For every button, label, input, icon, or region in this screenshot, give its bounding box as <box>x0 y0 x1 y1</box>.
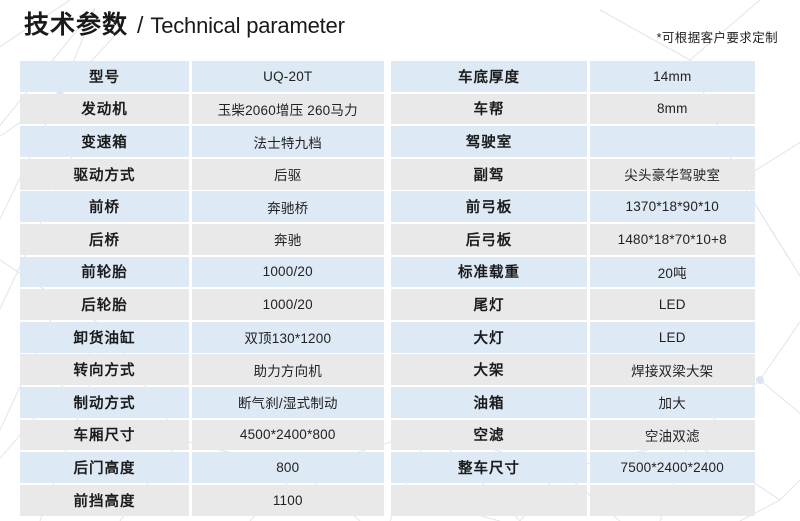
table-row: 变速箱法士特九档 <box>20 126 384 157</box>
spec-label: 油箱 <box>391 387 587 418</box>
spec-label: 驾驶室 <box>391 126 587 157</box>
spec-value: 1370*18*90*10 <box>590 191 756 222</box>
spec-label: 副驾 <box>391 159 587 190</box>
spec-table-left: 型号UQ-20T发动机玉柴2060增压 260马力变速箱法士特九档驱动方式后驱前… <box>20 61 384 517</box>
spec-label: 变速箱 <box>20 126 189 157</box>
spec-value: 1000/20 <box>192 289 385 320</box>
table-row: 前轮胎1000/20 <box>20 257 384 288</box>
table-row: 车厢尺寸4500*2400*800 <box>20 420 384 451</box>
spec-label: 前弓板 <box>391 191 587 222</box>
table-row: 前弓板1370*18*90*10 <box>391 191 755 222</box>
spec-value: 8mm <box>590 94 756 125</box>
spec-table-right: 车底厚度14mm车帮8mm驾驶室副驾尖头豪华驾驶室前弓板1370*18*90*1… <box>391 61 755 517</box>
table-row: 驱动方式后驱 <box>20 159 384 190</box>
spec-label: 车帮 <box>391 94 587 125</box>
table-row: 后弓板1480*18*70*10+8 <box>391 224 755 255</box>
table-row: 油箱加大 <box>391 387 755 418</box>
table-row: 发动机玉柴2060增压 260马力 <box>20 94 384 125</box>
spec-label: 车底厚度 <box>391 61 587 92</box>
spec-label: 发动机 <box>20 94 189 125</box>
spec-label: 前桥 <box>20 191 189 222</box>
table-row: 制动方式断气刹/湿式制动 <box>20 387 384 418</box>
table-row: 后门高度800 <box>20 452 384 483</box>
spec-value: 助力方向机 <box>192 354 385 385</box>
spec-label: 前轮胎 <box>20 257 189 288</box>
spec-value: 焊接双梁大架 <box>590 354 756 385</box>
spec-label: 大灯 <box>391 322 587 353</box>
page-title-english: Technical parameter <box>150 15 344 37</box>
spec-value: 尖头豪华驾驶室 <box>590 159 756 190</box>
spec-value <box>590 485 756 516</box>
table-row: 后轮胎1000/20 <box>20 289 384 320</box>
spec-value: 1100 <box>192 485 385 516</box>
table-row: 前桥奔驰桥 <box>20 191 384 222</box>
spec-label: 后门高度 <box>20 452 189 483</box>
spec-value: 加大 <box>590 387 756 418</box>
spec-label: 后桥 <box>20 224 189 255</box>
spec-value: 1000/20 <box>192 257 385 288</box>
spec-value: 14mm <box>590 61 756 92</box>
table-row: 尾灯LED <box>391 289 755 320</box>
spec-label: 前挡高度 <box>20 485 189 516</box>
spec-value <box>590 126 756 157</box>
spec-value: 奔驰桥 <box>192 191 385 222</box>
spec-value: 玉柴2060增压 260马力 <box>192 94 385 125</box>
page-title: 技术参数 / Technical parameter <box>24 13 345 38</box>
customization-note: *可根据客户要求定制 <box>657 27 778 46</box>
spec-label: 驱动方式 <box>20 159 189 190</box>
spec-label: 整车尺寸 <box>391 452 587 483</box>
title-separator: / <box>137 14 143 37</box>
table-row: 前挡高度1100 <box>20 485 384 516</box>
spec-value: 20吨 <box>590 257 756 288</box>
spec-label: 空滤 <box>391 420 587 451</box>
table-row: 型号UQ-20T <box>20 61 384 92</box>
page-title-chinese: 技术参数 <box>24 13 128 38</box>
spec-label: 尾灯 <box>391 289 587 320</box>
table-row: 整车尺寸7500*2400*2400 <box>391 452 755 483</box>
spec-label: 后轮胎 <box>20 289 189 320</box>
table-row: 车帮8mm <box>391 94 755 125</box>
table-row <box>391 485 755 516</box>
spec-value: LED <box>590 322 756 353</box>
spec-value: LED <box>590 289 756 320</box>
spec-value: 法士特九档 <box>192 126 385 157</box>
table-row: 后桥奔驰 <box>20 224 384 255</box>
table-row: 标准载重20吨 <box>391 257 755 288</box>
spec-value: UQ-20T <box>192 61 385 92</box>
spec-label <box>391 485 587 516</box>
table-row: 驾驶室 <box>391 126 755 157</box>
spec-label: 卸货油缸 <box>20 322 189 353</box>
spec-value: 7500*2400*2400 <box>590 452 756 483</box>
spec-value: 空油双滤 <box>590 420 756 451</box>
spec-label: 标准载重 <box>391 257 587 288</box>
page-header: 技术参数 / Technical parameter *可根据客户要求定制 <box>0 0 800 58</box>
spec-value: 后驱 <box>192 159 385 190</box>
spec-value: 奔驰 <box>192 224 385 255</box>
table-row: 卸货油缸双顶130*1200 <box>20 322 384 353</box>
spec-value: 双顶130*1200 <box>192 322 385 353</box>
spec-value: 4500*2400*800 <box>192 420 385 451</box>
spec-label: 车厢尺寸 <box>20 420 189 451</box>
spec-label: 制动方式 <box>20 387 189 418</box>
spec-label: 后弓板 <box>391 224 587 255</box>
table-row: 空滤空油双滤 <box>391 420 755 451</box>
table-row: 大灯LED <box>391 322 755 353</box>
table-row: 车底厚度14mm <box>391 61 755 92</box>
table-row: 转向方式助力方向机 <box>20 354 384 385</box>
spec-value: 断气刹/湿式制动 <box>192 387 385 418</box>
spec-label: 转向方式 <box>20 354 189 385</box>
spec-label: 型号 <box>20 61 189 92</box>
table-row: 副驾尖头豪华驾驶室 <box>391 159 755 190</box>
spec-value: 800 <box>192 452 385 483</box>
spec-label: 大架 <box>391 354 587 385</box>
table-row: 大架焊接双梁大架 <box>391 354 755 385</box>
spec-value: 1480*18*70*10+8 <box>590 224 756 255</box>
technical-parameter-page: 技术参数 / Technical parameter *可根据客户要求定制 型号… <box>0 0 800 521</box>
